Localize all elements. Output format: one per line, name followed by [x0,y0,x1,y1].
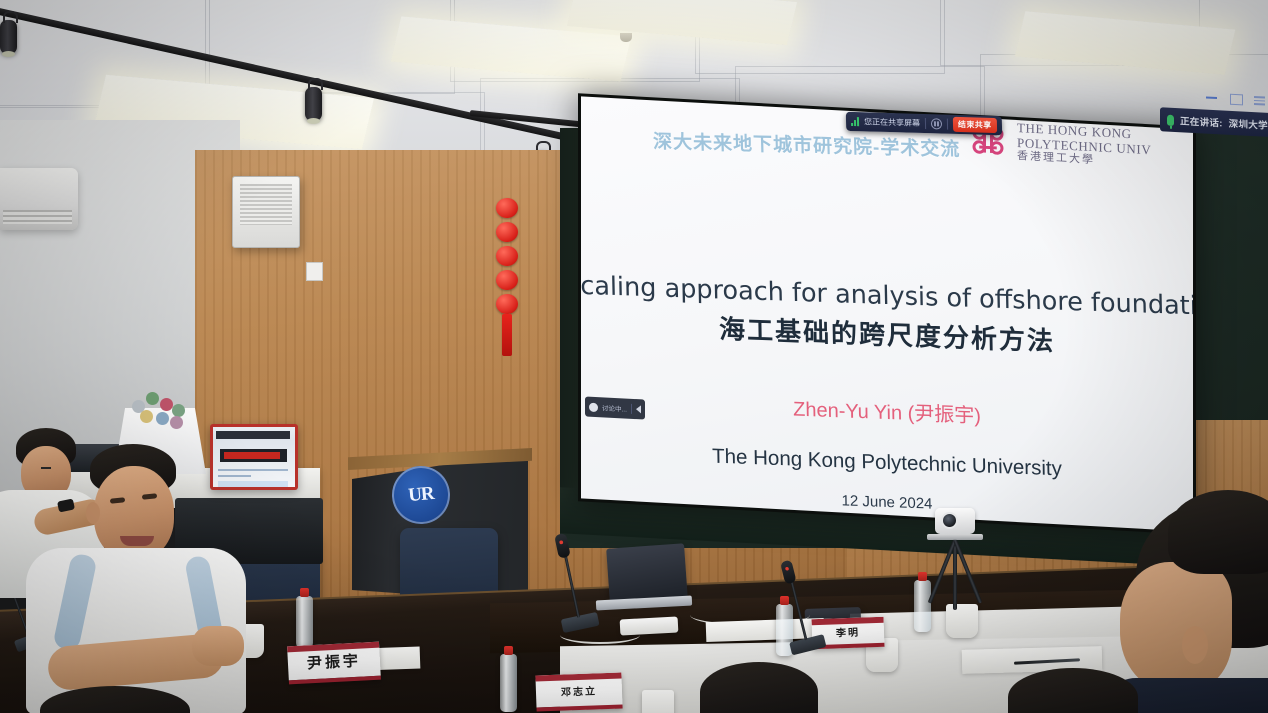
maximize-icon[interactable] [1229,92,1242,106]
attendee-foreground-speaker [24,444,254,713]
projection-screen: 深大未来地下城市研究院-学术交流 THE HONG KONG POLYTECHN… [578,93,1196,534]
camera-lens-icon [941,512,958,529]
signal-strength-icon [851,117,859,126]
hair [1168,490,1268,574]
attendee-right-mid [1168,490,1268,630]
microphone-icon [1167,114,1174,125]
track-spotlight [0,20,17,54]
mouth [120,536,154,546]
slide-affiliation: The Hong Kong Polytechnic University [712,445,1062,482]
wall-speaker [232,176,300,248]
wall-socket-plate [306,262,323,281]
nameplate-text: 尹振宇 [306,649,361,673]
nameplate-text: 邓志立 [561,682,598,698]
slide-author: Zhen-Yu Yin (尹振宇) [793,393,981,429]
slide-date: 12 June 2024 [841,492,932,512]
water-bottle [296,596,313,648]
hair [700,662,818,713]
sprinkler-head [620,33,632,42]
paper-cup [946,604,978,638]
attendee-bottom-right [1008,668,1138,713]
university-emblem-text: UR [407,483,434,507]
speaking-label: 正在讲话: [1180,113,1223,129]
air-conditioner [0,168,78,230]
water-bottle [500,654,517,712]
presentation-slide: 深大未来地下城市研究院-学术交流 THE HONG KONG POLYTECHN… [581,96,1193,531]
track-spotlight [305,87,322,121]
ptz-conference-camera [925,508,985,608]
meeting-status-icon [589,402,598,411]
attendee-bottom-center [700,662,818,713]
conference-room-photo: 深大未来地下城市研究院-学术交流 THE HONG KONG POLYTECHN… [0,0,1268,713]
toolbar-divider [925,118,926,129]
slide-title-chinese: 海工基础的跨尺度分析方法 [719,309,1056,358]
toolbar-divider [947,119,948,130]
mini-toolbar-label: 讨论中... [602,402,627,413]
menu-icon[interactable] [1253,93,1266,107]
nameplate-text: 李明 [836,623,861,639]
chevron-left-icon[interactable] [636,405,641,413]
chinese-lantern-decoration [496,196,518,356]
minimize-icon[interactable] [1205,90,1218,104]
end-share-button[interactable]: 结束共享 [953,117,997,133]
hair [40,686,190,713]
ear [86,502,100,524]
toolbar-divider [631,404,632,414]
meeting-mini-toolbar[interactable]: 讨论中... [585,396,645,419]
nameplate: 邓志立 [535,673,622,712]
paper-cup [642,690,674,713]
attendee-bottom-left [40,686,190,713]
ear [1182,626,1208,664]
sharing-status-label: 您正在共享屏幕 [864,116,920,129]
hand [192,626,244,666]
pause-share-icon[interactable] [931,118,942,129]
tripod-leg [953,539,982,604]
nameplate: 尹振宇 [287,642,381,685]
active-speaker-name: 深圳大学 [1229,116,1268,132]
hair [1008,668,1138,713]
